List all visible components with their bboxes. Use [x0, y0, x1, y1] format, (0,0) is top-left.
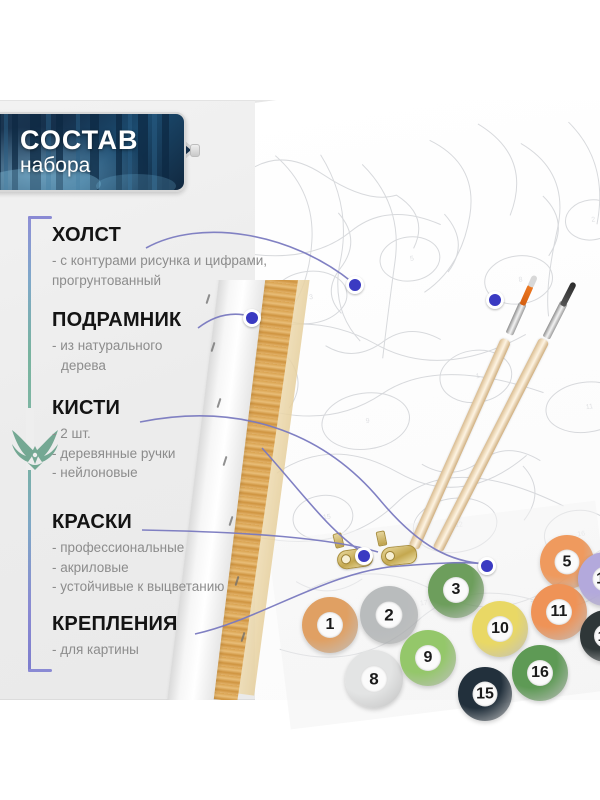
item-brushes-details: - 2 шт. - деревянные ручки - нейлоновые [52, 424, 175, 483]
paint-pot-1: 1 [302, 597, 358, 653]
header-banner: СОСТАВ набора [0, 112, 196, 188]
svg-text:5: 5 [410, 255, 415, 262]
detail-line: - деревянные ручки [52, 444, 175, 464]
paint-pot-label: 5 [555, 550, 580, 575]
banner-subtitle: набора [20, 155, 184, 177]
item-canvas: ХОЛСТ - с контурами рисунка и цифрами, п… [52, 225, 267, 290]
detail-line: - из натурального [52, 336, 181, 356]
paint-pot-11: 11 [531, 584, 587, 640]
item-paints-title: КРАСКИ [52, 512, 224, 533]
detail-line: дерева [52, 356, 181, 376]
paint-pot-3: 3 [428, 562, 484, 618]
item-mounts-details: - для картины [52, 640, 178, 660]
banner-text: СОСТАВ набора [0, 114, 184, 190]
detail-line: - для картины [52, 640, 178, 660]
paint-pot-label: 16 [527, 660, 553, 686]
svg-text:2: 2 [591, 216, 596, 223]
paint-pot-label: 2 [376, 602, 403, 629]
detail-line: - с контурами рисунка и цифрами, [52, 251, 267, 271]
paint-pot-9: 9 [400, 630, 456, 686]
paint-pot-10: 10 [472, 601, 528, 657]
detail-line: прогрунтованный [52, 271, 267, 291]
banner-bead-ornament [190, 144, 200, 157]
paint-pot-label: 3 [443, 577, 469, 603]
hanger-bracket-right [380, 544, 418, 567]
item-stretcher-title: ПОДРАМНИК [52, 310, 181, 331]
bracket-top-arm [28, 216, 52, 219]
marker-dot-canvas [346, 276, 364, 294]
detail-line: - 2 шт. [52, 424, 175, 444]
item-mounts-title: КРЕПЛЕНИЯ [52, 614, 178, 635]
svg-text:1: 1 [475, 373, 480, 380]
detail-line: - профессиональные [52, 538, 224, 558]
paint-pot-label: 15 [473, 682, 498, 707]
item-stretcher: ПОДРАМНИК - из натурального дерева [52, 310, 181, 375]
paint-pot-15: 15 [458, 667, 512, 721]
marker-dot-mounts [355, 547, 373, 565]
paint-pot-2: 2 [360, 586, 418, 644]
item-canvas-title: ХОЛСТ [52, 225, 267, 246]
paint-pot-label: 17 [594, 624, 600, 648]
detail-line: - акриловые [52, 558, 224, 578]
staple [206, 294, 211, 304]
paint-pot-label: 10 [487, 616, 513, 642]
item-stretcher-details: - из натурального дерева [52, 336, 181, 375]
marker-dot-stretcher [243, 309, 261, 327]
marker-dot-brushes [486, 291, 504, 309]
item-canvas-details: - с контурами рисунка и цифрами, прогрун… [52, 251, 267, 290]
detail-line: - устойчивые к выцветанию [52, 577, 224, 597]
brush-bristle-tip [527, 274, 537, 287]
banner-body: СОСТАВ набора [0, 112, 186, 192]
item-paints-details: - профессиональные - акриловые - устойчи… [52, 538, 224, 597]
infographic-stage: 35 82 91 1115 1216 1017 [0, 0, 600, 800]
item-brushes-title: КИСТИ [52, 398, 175, 419]
paint-pot-label: 8 [361, 666, 388, 693]
paint-pot-label: 1 [317, 612, 343, 638]
svg-text:8: 8 [518, 276, 523, 283]
detail-line: - нейлоновые [52, 463, 175, 483]
paint-pot-label: 12 [593, 567, 600, 592]
item-brushes: КИСТИ - 2 шт. - деревянные ручки - нейло… [52, 398, 175, 483]
paint-pot-16: 16 [512, 645, 568, 701]
paint-pot-8: 8 [345, 650, 403, 708]
marker-dot-paints [478, 557, 496, 575]
svg-text:11: 11 [585, 403, 593, 411]
bracket-bottom-arm [28, 669, 52, 672]
item-paints: КРАСКИ - профессиональные - акриловые - … [52, 512, 224, 597]
item-mounts: КРЕПЛЕНИЯ - для картины [52, 614, 178, 660]
banner-title: СОСТАВ [20, 127, 184, 154]
paint-pot-label: 11 [546, 599, 572, 625]
paint-pot-label: 9 [415, 645, 441, 671]
